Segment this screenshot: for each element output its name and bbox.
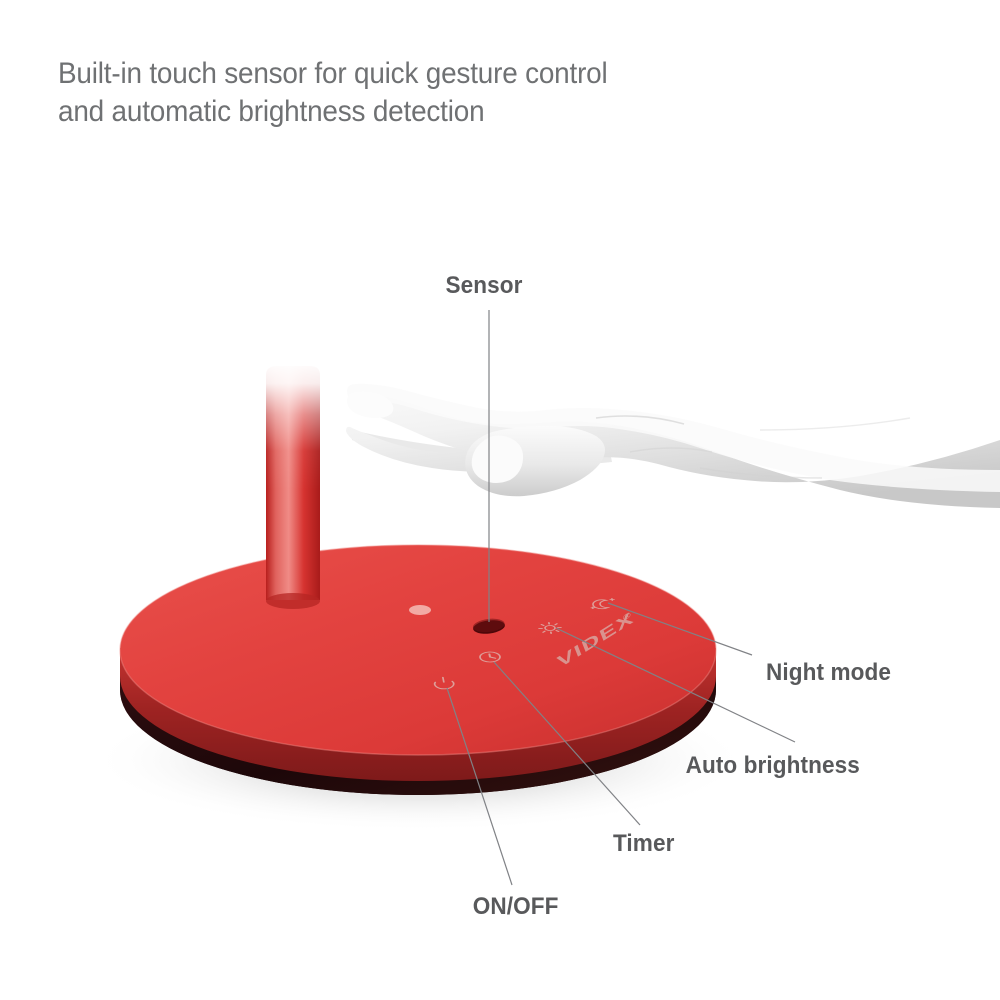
lamp-top-plate (120, 545, 716, 755)
callout-label-timer: Timer (613, 830, 674, 858)
hand-gesture (346, 356, 1000, 508)
lamp-stem (262, 360, 324, 609)
product-illustration: VIDEX ® (0, 0, 1000, 1000)
callout-label-auto-brightness: Auto brightness (686, 752, 860, 780)
led-indicator-dot (409, 605, 431, 615)
callout-label-sensor: Sensor (445, 272, 522, 300)
callout-label-on-off: ON/OFF (473, 893, 559, 921)
callout-label-night-mode: Night mode (766, 659, 891, 687)
